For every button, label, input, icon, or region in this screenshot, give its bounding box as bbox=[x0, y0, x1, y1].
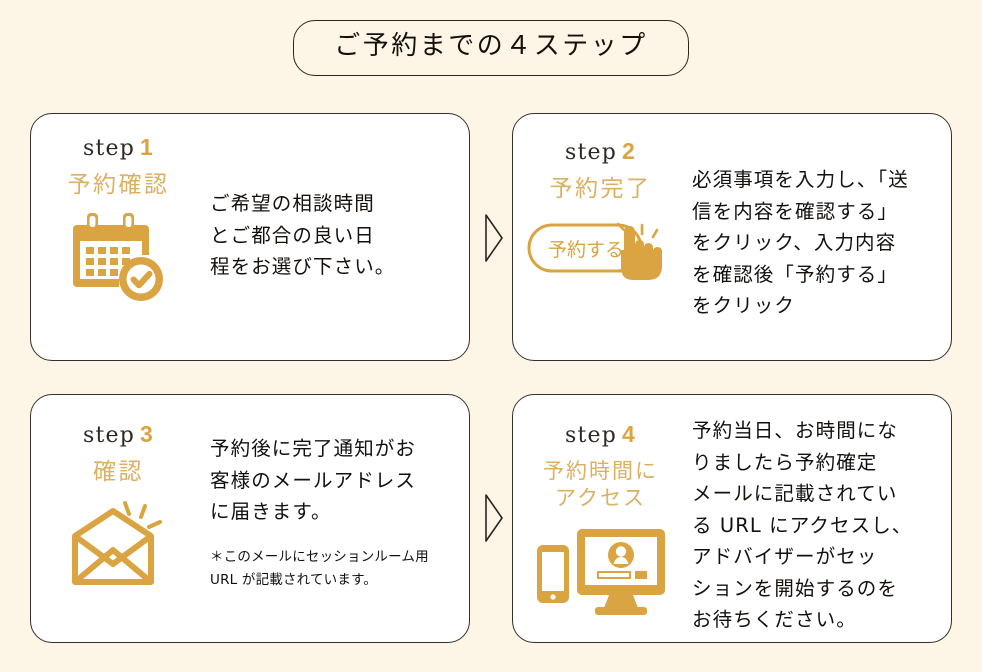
step-3-word: step bbox=[83, 423, 135, 448]
step-3-number: 3 bbox=[140, 421, 154, 447]
step-card-1: step1 予約確認 bbox=[30, 113, 470, 361]
step-3-label: 確認 bbox=[93, 458, 144, 488]
step-1-head-column: step1 予約確認 bbox=[31, 114, 206, 303]
step-1-number: 1 bbox=[140, 134, 154, 160]
step-1-body-text: ご希望の相談時間 とご都合の良い日 程をお選び下さい。 bbox=[210, 188, 445, 283]
step-3-note-text: ＊このメールにセッションルーム用 URL が記載されています。 bbox=[210, 546, 459, 593]
step-2-body-text: 必須事項を入力し、「送 信を内容を確認する」 をクリック、入力内容 を確認後「予… bbox=[692, 164, 933, 322]
step-2-word: step bbox=[565, 140, 617, 165]
step-4-label: 予約時間に アクセス bbox=[543, 458, 658, 513]
step-4-body-column: 予約当日、お時間にな りましたら予約確定 メールに記載されてい る URL にア… bbox=[688, 395, 951, 636]
calendar-check-icon bbox=[71, 211, 167, 303]
step-card-2: step2 予約完了 予約する bbox=[512, 113, 952, 361]
step-3-head-column: step3 確認 bbox=[31, 395, 206, 588]
step-1-label: 予約確認 bbox=[68, 171, 170, 201]
step-2-head-column: step2 予約完了 予約する bbox=[513, 114, 688, 289]
page-title: ご予約までの４ステップ bbox=[293, 20, 689, 76]
step-4-word: step bbox=[565, 423, 617, 448]
arrow-step1-to-step2-icon bbox=[482, 213, 506, 263]
steps-board: step1 予約確認 bbox=[30, 113, 952, 643]
arrow-step3-to-step4-icon bbox=[482, 493, 506, 543]
step-2-label: 予約完了 bbox=[550, 175, 652, 205]
step-3-body-column: 予約後に完了通知がお 客様のメールアドレス に届きます。 ＊このメールにセッショ… bbox=[206, 395, 469, 593]
open-envelope-icon bbox=[67, 498, 171, 588]
step-4-body-text: 予約当日、お時間にな りましたら予約確定 メールに記載されてい る URL にア… bbox=[692, 415, 937, 636]
click-button-label: 予約する bbox=[548, 239, 624, 261]
step-1-heading: step1 bbox=[83, 136, 154, 160]
step-2-number: 2 bbox=[622, 138, 636, 164]
devices-video-session-icon bbox=[533, 523, 669, 619]
step-3-body-text: 予約後に完了通知がお 客様のメールアドレス に届きます。 bbox=[210, 433, 459, 528]
step-4-heading: step4 bbox=[565, 423, 636, 447]
step-card-3: step3 確認 予約後 bbox=[30, 394, 470, 643]
step-1-body-column: ご希望の相談時間 とご都合の良い日 程をお選び下さい。 bbox=[206, 114, 469, 283]
step-card-4: step4 予約時間に アクセス bbox=[512, 394, 952, 643]
step-1-word: step bbox=[83, 136, 135, 161]
step-3-heading: step3 bbox=[83, 423, 154, 447]
step-4-number: 4 bbox=[622, 421, 636, 447]
step-2-body-column: 必須事項を入力し、「送 信を内容を確認する」 をクリック、入力内容 を確認後「予… bbox=[688, 114, 951, 322]
page-title-container: ご予約までの４ステップ bbox=[0, 20, 982, 76]
step-2-heading: step2 bbox=[565, 140, 636, 164]
step-4-head-column: step4 予約時間に アクセス bbox=[513, 395, 688, 619]
click-button-icon: 予約する bbox=[526, 215, 676, 289]
